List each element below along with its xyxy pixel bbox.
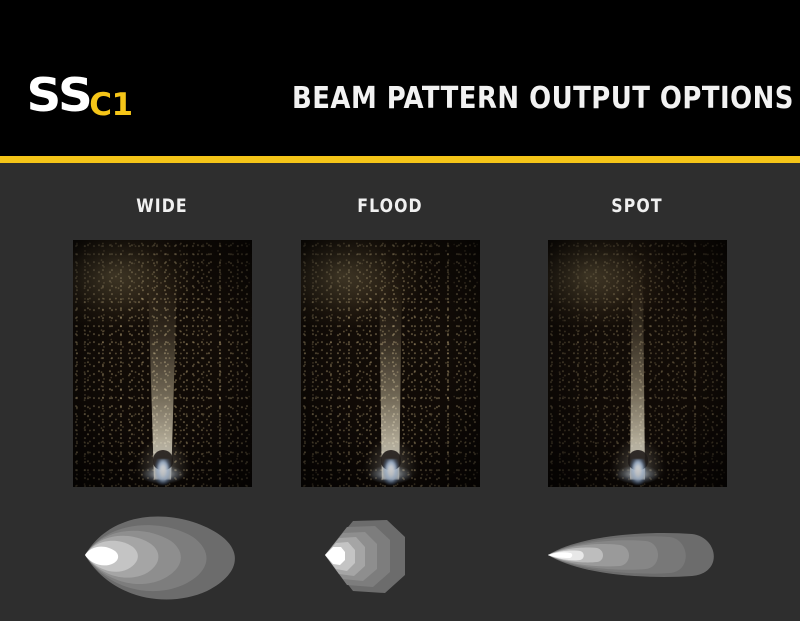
accent-divider-bar — [0, 156, 800, 163]
beam-intensity-layers — [85, 516, 235, 599]
beam-photo-flood — [301, 240, 480, 487]
beam-hotspot — [325, 547, 345, 565]
photo-vignette — [301, 240, 480, 487]
beam-option-wide: WIDE — [72, 163, 252, 621]
beam-option-label: SPOT — [554, 195, 720, 217]
flood-beam-diagram — [295, 503, 490, 607]
beam-pattern-infographic: SSC1 BEAM PATTERN OUTPUT OPTIONS WIDE — [0, 0, 800, 621]
beam-options-row: WIDE — [0, 163, 800, 621]
beam-intensity-layers — [325, 520, 405, 593]
spot-beam-diagram — [542, 503, 737, 607]
page-title: BEAM PATTERN OUTPUT OPTIONS — [292, 81, 794, 116]
beam-option-flood: FLOOD — [300, 163, 480, 621]
wide-beam-diagram — [67, 503, 262, 607]
beam-photo-spot — [548, 240, 727, 487]
beam-intensity-layers — [548, 533, 714, 577]
photo-vignette — [548, 240, 727, 487]
header-bar: SSC1 BEAM PATTERN OUTPUT OPTIONS — [0, 0, 800, 156]
beam-option-spot: SPOT — [547, 163, 727, 621]
brand-logo: SSC1 — [28, 72, 133, 118]
photo-vignette — [73, 240, 252, 487]
beam-option-label: FLOOD — [307, 195, 473, 217]
beam-photo-wide — [73, 240, 252, 487]
logo-primary-text: SS — [26, 72, 91, 118]
logo-suffix-text: C1 — [89, 90, 132, 121]
beam-option-label: WIDE — [79, 195, 245, 217]
